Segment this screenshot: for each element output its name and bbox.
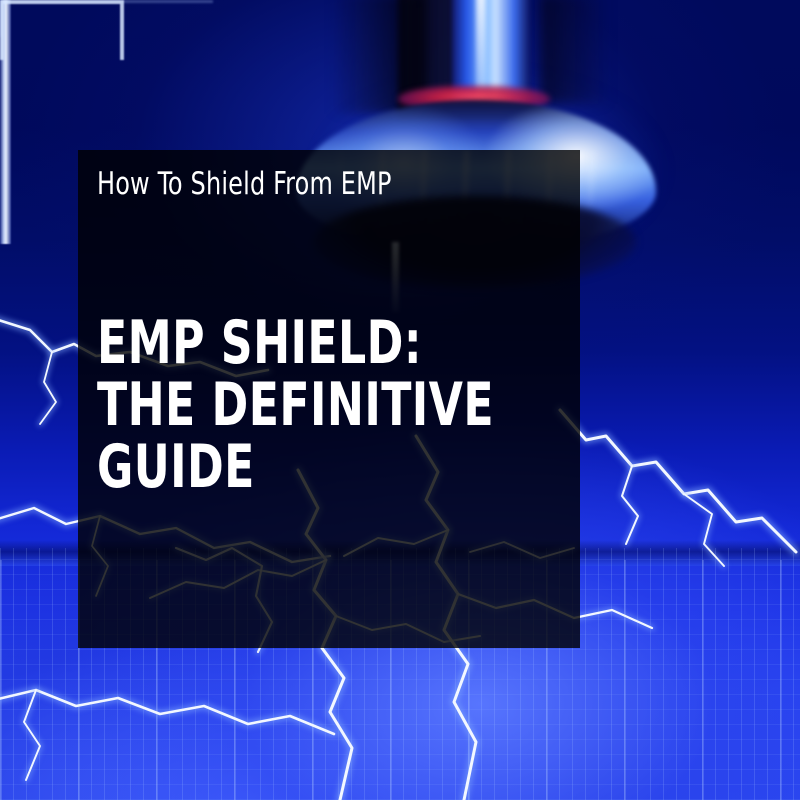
poster-subtitle: How To Shield From EMP bbox=[97, 165, 392, 203]
title-line-2: THE DEFINITIVE bbox=[97, 374, 494, 436]
lightning-bolt-lower-left bbox=[0, 690, 334, 780]
title-line-1: EMP SHIELD: bbox=[97, 312, 494, 374]
lightning-bolt-right-diagonal bbox=[560, 410, 796, 566]
poster-image: How To Shield From EMP EMP SHIELD: THE D… bbox=[0, 0, 800, 800]
title-line-3: GUIDE bbox=[97, 436, 494, 498]
poster-title: EMP SHIELD: THE DEFINITIVE GUIDE bbox=[97, 312, 494, 498]
text-overlay-panel: How To Shield From EMP EMP SHIELD: THE D… bbox=[78, 150, 580, 648]
